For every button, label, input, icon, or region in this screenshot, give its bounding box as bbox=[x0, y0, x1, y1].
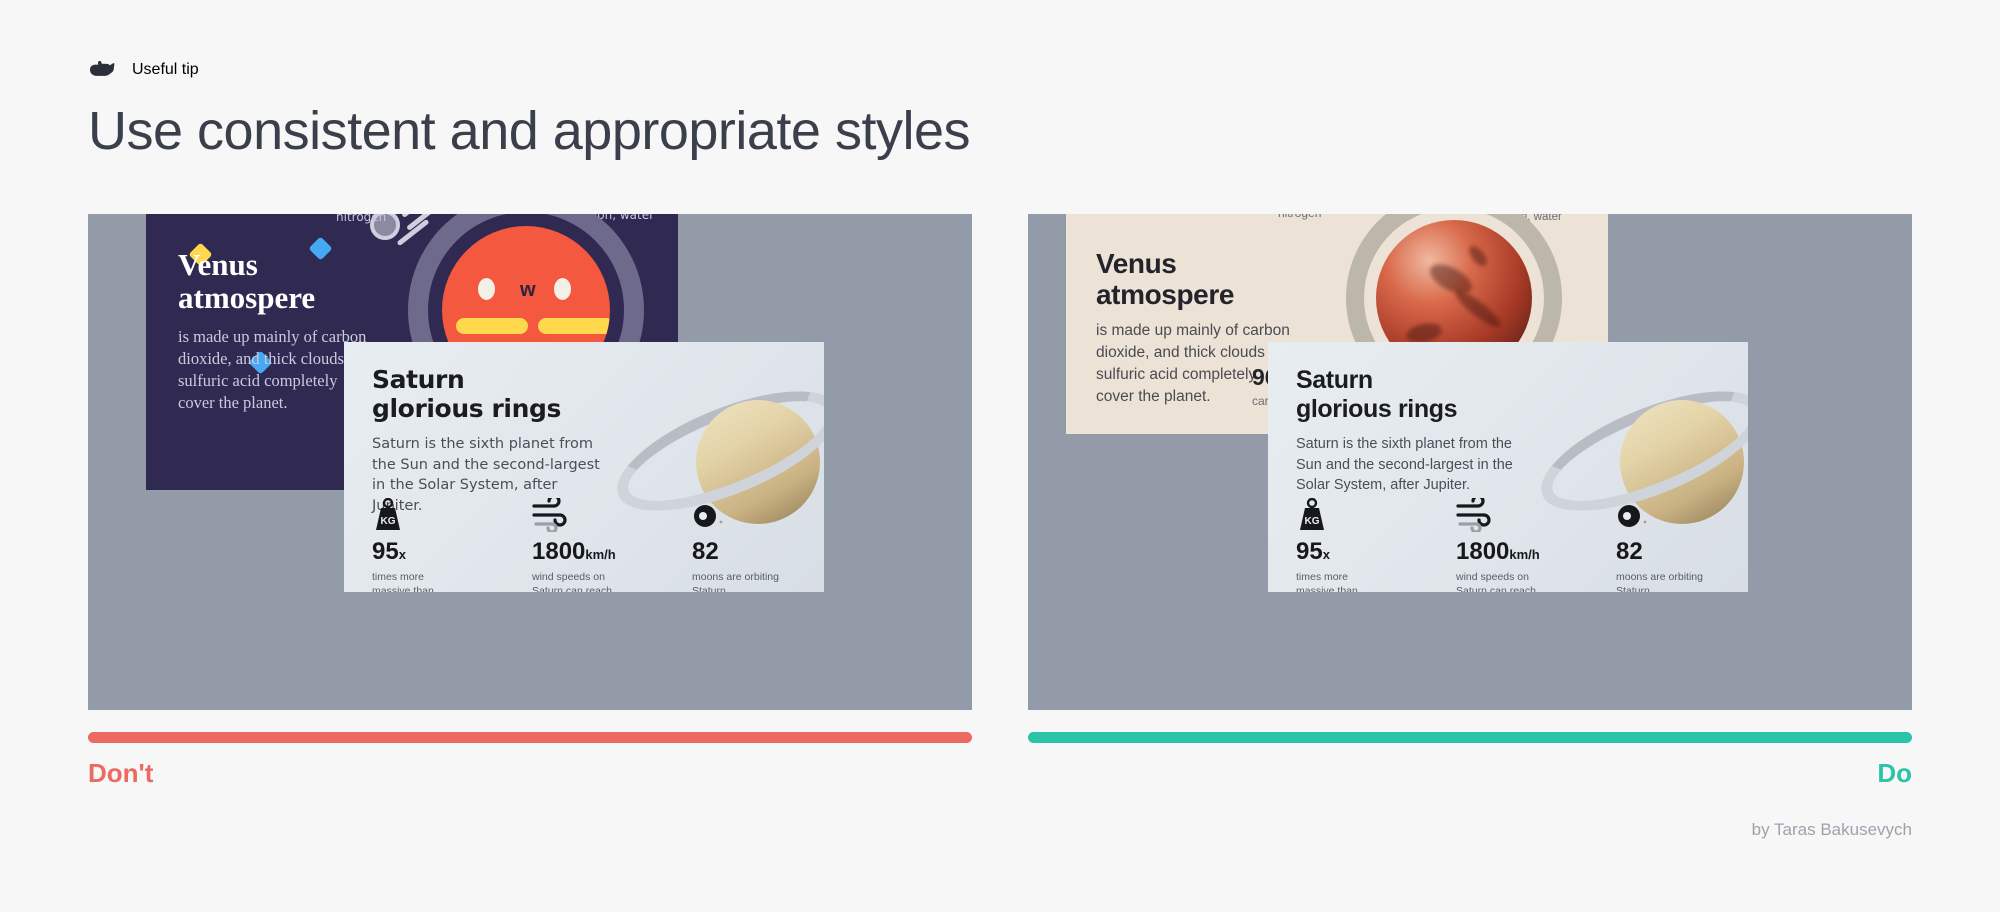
stat-number: 95 bbox=[1296, 538, 1323, 565]
venus-nitrogen-label: nitrogen bbox=[1278, 214, 1321, 220]
saturn-stat-value: 95x bbox=[372, 540, 464, 564]
stat-number: 1800 bbox=[532, 538, 585, 565]
dont-label: Don't bbox=[88, 758, 153, 789]
do-label: Do bbox=[1028, 758, 1912, 789]
saturn-title: Saturn glorious rings bbox=[372, 366, 561, 423]
planet-surface-detail bbox=[1466, 243, 1490, 269]
planet-eye-icon bbox=[554, 278, 571, 300]
weight-kg-icon: KG bbox=[372, 498, 464, 532]
venus-title: Venus atmospere bbox=[178, 248, 315, 315]
planet-eye-icon bbox=[478, 278, 495, 300]
stat-unit: x bbox=[399, 547, 406, 562]
planet-mouth-icon: w bbox=[520, 282, 546, 296]
saturn-title-line1: Saturn bbox=[1296, 366, 1373, 394]
useful-tip-label: Useful tip bbox=[132, 61, 199, 79]
credit-text: by Taras Bakusevych bbox=[1028, 820, 1912, 840]
saturn-stat-desc: moons are orbiting Staturn bbox=[692, 570, 784, 592]
do-panel: nitrogen 0.02% sulfur, argon, water vapo… bbox=[1028, 214, 1912, 710]
saturn-stat-mass: KG 95x times more massive than Earth. bbox=[1296, 498, 1388, 592]
saturn-illustration bbox=[604, 352, 824, 562]
saturn-stat-desc: moons are orbiting Staturn bbox=[1616, 570, 1708, 592]
dont-bar bbox=[88, 732, 972, 743]
saturn-stat-desc: times more massive than Earth. bbox=[372, 570, 464, 592]
stat-unit: x bbox=[1323, 547, 1330, 562]
saturn-card-do: Saturn glorious rings Saturn is the sixt… bbox=[1268, 342, 1748, 592]
saturn-stat-desc: times more massive than Earth. bbox=[1296, 570, 1388, 592]
saturn-stat-mass: KG 95x times more massive than Earth. bbox=[372, 498, 464, 592]
weight-kg-icon: KG bbox=[1296, 498, 1388, 532]
venus-title-line1: Venus bbox=[178, 247, 258, 282]
dont-panel: nitrogen 0.02% sulfur, argon, water vapo… bbox=[88, 214, 972, 710]
stat-number: 95 bbox=[372, 538, 399, 565]
planet-stripe bbox=[456, 318, 528, 334]
saturn-stat-desc: wind speeds on Saturn can reach bbox=[1456, 570, 1548, 592]
venus-title-line1: Venus bbox=[1096, 248, 1176, 279]
stat-number: 1800 bbox=[1456, 538, 1509, 565]
planet-surface-detail bbox=[1452, 286, 1505, 332]
saturn-card-dont: Saturn glorious rings Saturn is the sixt… bbox=[344, 342, 824, 592]
svg-text:KG: KG bbox=[381, 516, 396, 527]
saturn-stat-desc: wind speeds on Saturn can reach bbox=[532, 570, 624, 592]
saturn-illustration bbox=[1528, 352, 1748, 562]
venus-title-line2: atmospere bbox=[178, 280, 315, 315]
pointing-hand-icon bbox=[88, 58, 118, 82]
svg-text:KG: KG bbox=[1305, 516, 1320, 527]
venus-nitrogen-label: nitrogen bbox=[336, 214, 386, 224]
saturn-title-line2: glorious rings bbox=[1296, 395, 1457, 423]
page-title: Use consistent and appropriate styles bbox=[88, 100, 970, 162]
saturn-title-line1: Saturn bbox=[372, 365, 464, 394]
planet-stripe bbox=[538, 318, 610, 334]
saturn-body-text: Saturn is the sixth planet from the Sun … bbox=[1296, 434, 1524, 496]
saturn-stat-value: 95x bbox=[1296, 540, 1388, 564]
useful-tip-row: Useful tip bbox=[88, 58, 199, 82]
planet-surface-detail bbox=[1426, 258, 1477, 299]
venus-title-line2: atmospere bbox=[1096, 279, 1234, 310]
saturn-title: Saturn glorious rings bbox=[1296, 366, 1457, 423]
venus-title: Venus atmospere bbox=[1096, 248, 1234, 311]
do-bar bbox=[1028, 732, 1912, 743]
saturn-title-line2: glorious rings bbox=[372, 394, 561, 423]
